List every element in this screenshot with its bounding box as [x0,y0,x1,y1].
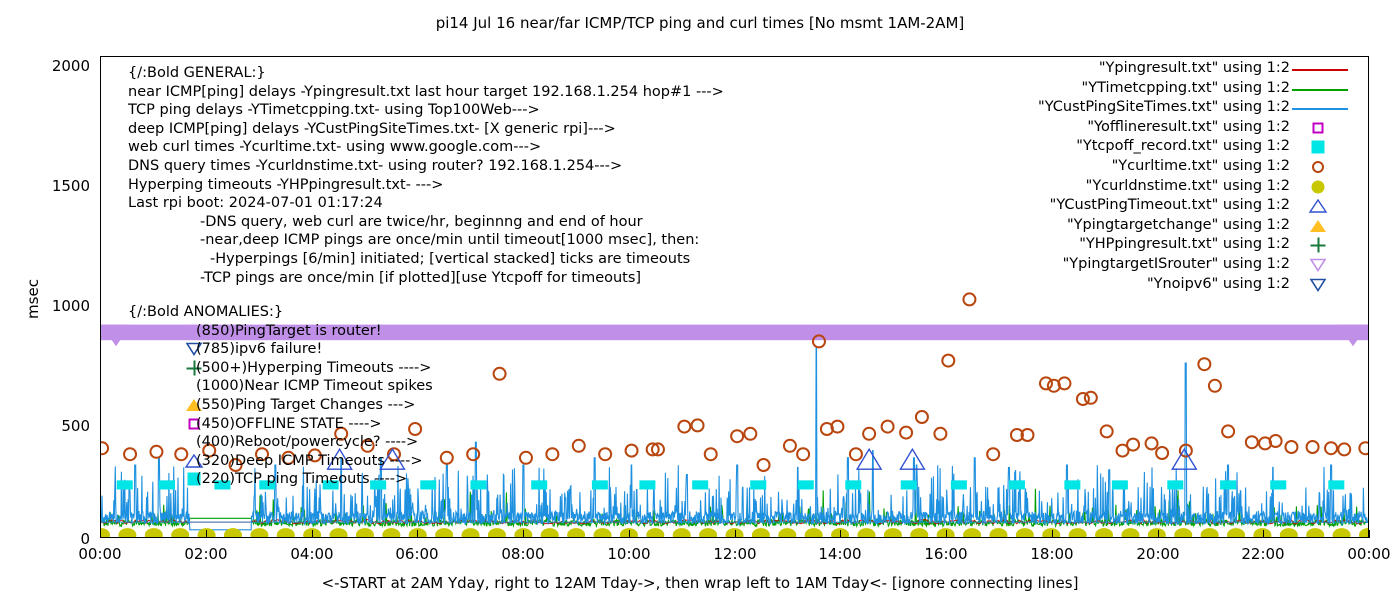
anomaly-label: (400)Reboot/powercycle? ----> [196,433,418,452]
legend-key-square-filled-cyan [1292,147,1352,148]
legend: "Ypingresult.txt" using 1:2 "YTimetcppin… [940,60,1352,295]
general-notes-block: {/:Bold GENERAL:} near ICMP[ping] delays… [128,64,724,287]
y-tick-2000: 2000 [12,57,90,75]
legend-item-ynoipv6: "Ynoipv6" using 1:2 [940,276,1352,296]
x-tick-0200: 02:00 [166,545,246,563]
legend-label: "YCustPingTimeout.txt" using 1:2 [1050,197,1290,213]
x-tick-1000: 10:00 [589,545,669,563]
x-tick-mark [735,530,736,538]
legend-label: "Ycurldnstime.txt" using 1:2 [1086,178,1290,194]
legend-key-circle-open-brown [1292,167,1352,168]
anomaly-label: (785)ipv6 failure! [196,340,322,359]
legend-item-ytcpoff-record: "Ytcpoff_record.txt" using 1:2 [940,138,1352,158]
x-tick-1800: 18:00 [1012,545,1092,563]
anomaly-label: (220)TCP ping Timeouts ----> [196,470,407,489]
anomaly-label: (850)PingTarget is router! [196,322,382,341]
legend-label: "YHPpingresult.txt" using 1:2 [1079,236,1290,252]
x-tick-mark [1052,530,1053,538]
anomaly-label: (320)Deep ICMP Timeouts ----> [196,452,423,471]
general-note: -near,deep ICMP pings are once/min until… [128,231,724,250]
legend-item-ytimetcpping: "YTimetcpping.txt" using 1:2 [940,80,1352,100]
anomaly-label: (1000)Near ICMP Timeout spikes [196,377,433,396]
x-tick-mark [1369,530,1370,538]
legend-key-triangle-down-open-purple [1292,265,1352,266]
general-note: -Hyperpings [6/min] initiated; [vertical… [128,250,724,269]
x-tick-1400: 14:00 [800,545,880,563]
x-tick-mark [100,530,101,538]
legend-item-ycurldnstime: "Ycurldnstime.txt" using 1:2 [940,178,1352,198]
legend-item-ypingtargetchange: "Ypingtargetchange" using 1:2 [940,217,1352,237]
legend-label: "Ypingtargetchange" using 1:2 [1067,217,1290,233]
legend-item-yofflineresult: "Yofflineresult.txt" using 1:2 [940,119,1352,139]
general-line: DNS query times -Ycurldnstime.txt- using… [128,157,724,176]
y-tick-500: 500 [12,417,90,435]
x-tick-mark [523,530,524,538]
legend-label: "Ynoipv6" using 1:2 [1147,276,1290,292]
legend-label: "Ytcpoff_record.txt" using 1:2 [1076,138,1290,154]
x-tick-mark [1158,530,1159,538]
x-tick-2200: 22:00 [1223,545,1303,563]
legend-item-ycustpingtimeout: "YCustPingTimeout.txt" using 1:2 [940,197,1352,217]
legend-key-line-blue [1292,108,1352,109]
y-tick-1500: 1500 [12,177,90,195]
anomaly-label: (550)Ping Target Changes ---> [196,396,415,415]
general-line: web curl times -Ycurltime.txt- using www… [128,138,724,157]
x-tick-0800: 08:00 [483,545,563,563]
x-tick-mark [946,530,947,538]
legend-key-triangle-up-filled-orange [1292,226,1352,227]
x-tick-2000: 20:00 [1118,545,1198,563]
x-tick-mark [417,530,418,538]
legend-key-line-green [1292,89,1352,90]
x-tick-0000b: 00:00 [1329,545,1400,563]
general-note: -DNS query, web curl are twice/hr, begin… [128,213,724,232]
anomaly-label: (500+)Hyperping Timeouts ----> [196,359,431,378]
x-tick-1200: 12:00 [695,545,775,563]
x-tick-mark [206,530,207,538]
legend-key-square-open-magenta [1292,128,1352,129]
x-tick-mark [629,530,630,538]
legend-label: "YCustPingSiteTimes.txt" using 1:2 [1038,99,1290,115]
x-tick-0600: 06:00 [377,545,457,563]
general-line: Hyperping timeouts -YHPpingresult.txt- -… [128,176,724,195]
legend-key-circle-filled-olive [1292,187,1352,188]
legend-item-ypingtargetisrouter: "YpingtargetISrouter" using 1:2 [940,256,1352,276]
legend-label: "Yofflineresult.txt" using 1:2 [1087,119,1290,135]
chart-page: pi14 Jul 16 near/far ICMP/TCP ping and c… [0,0,1400,600]
legend-key-line-red [1292,69,1352,70]
x-tick-0000a: 00:00 [60,545,140,563]
general-heading: {/:Bold GENERAL:} [128,64,724,83]
legend-label: "YpingtargetISrouter" using 1:2 [1063,256,1290,272]
legend-key-plus-green [1292,245,1352,246]
anomaly-label: (450)OFFLINE STATE ----> [196,415,382,434]
general-note: -TCP pings are once/min [if plotted][use… [128,269,724,288]
legend-item-ypingresult: "Ypingresult.txt" using 1:2 [940,60,1352,80]
anomalies-heading: {/:Bold ANOMALIES:} [128,303,283,322]
legend-key-triangle-down-open-blue [1292,285,1352,286]
x-tick-1600: 16:00 [906,545,986,563]
x-axis-caption: <-START at 2AM Yday, right to 12AM Tday-… [0,574,1400,592]
legend-item-ycustpingsitetimes: "YCustPingSiteTimes.txt" using 1:2 [940,99,1352,119]
legend-key-triangle-up-open-blue [1292,206,1352,207]
x-tick-mark [1263,530,1264,538]
general-line-last-boot: Last rpi boot: 2024-07-01 01:17:24 [128,194,724,213]
legend-label: "Ycurltime.txt" using 1:2 [1112,158,1290,174]
legend-label: "Ypingresult.txt" using 1:2 [1099,60,1290,76]
y-tick-1000: 1000 [12,297,90,315]
page-title: pi14 Jul 16 near/far ICMP/TCP ping and c… [0,14,1400,32]
general-line: near ICMP[ping] delays -Ypingresult.txt … [128,83,724,102]
x-tick-mark [312,530,313,538]
legend-label: "YTimetcpping.txt" using 1:2 [1082,80,1290,96]
x-tick-mark [840,530,841,538]
x-tick-0400: 04:00 [272,545,352,563]
legend-item-yhppingresult: "YHPpingresult.txt" using 1:2 [940,236,1352,256]
general-line: deep ICMP[ping] delays -YCustPingSiteTim… [128,120,724,139]
general-line: TCP ping delays -YTimetcpping.txt- using… [128,101,724,120]
legend-item-ycurltime: "Ycurltime.txt" using 1:2 [940,158,1352,178]
